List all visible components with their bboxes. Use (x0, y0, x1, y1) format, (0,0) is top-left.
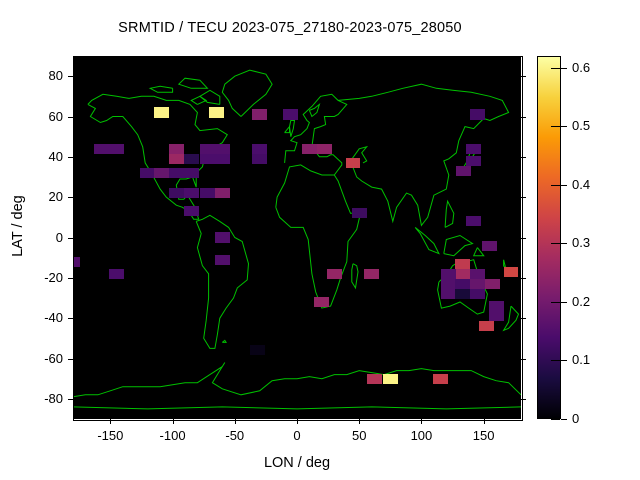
heatmap-cell (327, 269, 342, 279)
heatmap-cell (352, 208, 367, 218)
heatmap-cell (470, 269, 485, 279)
axis-tick (68, 117, 73, 118)
coastline-path (179, 78, 208, 88)
heatmap-cell (169, 144, 184, 154)
colorbar-tick (561, 68, 567, 69)
coastline-path (73, 407, 521, 409)
colorbar-tick (561, 302, 567, 303)
heatmap-cell (209, 107, 224, 117)
heatmap-cell (470, 109, 485, 119)
coastline-path (444, 236, 473, 256)
heatmap-cell (441, 279, 456, 289)
axis-tick (68, 359, 73, 360)
axis-tick (521, 318, 526, 319)
heatmap-cell (252, 109, 267, 119)
coastline-path (504, 306, 519, 330)
axis-tick (235, 419, 236, 424)
coastline-path (191, 96, 206, 104)
heatmap-cell (504, 267, 519, 277)
heatmap-cell (200, 144, 215, 154)
colorbar-gradient (538, 57, 560, 418)
y-tick-label: 0 (17, 230, 63, 245)
heatmap-cell (433, 374, 448, 384)
y-tick-label: -80 (17, 391, 63, 406)
axis-tick (68, 76, 73, 77)
axis-tick (297, 419, 298, 424)
heatmap-cell (252, 154, 267, 164)
axis-tick (521, 117, 526, 118)
axis-tick (359, 56, 360, 61)
heatmap-cell (184, 168, 199, 178)
heatmap-cell (455, 289, 470, 299)
chart-title: SRMTID / TECU 2023-075_27180-2023-075_28… (0, 20, 580, 36)
colorbar-tick (551, 419, 560, 420)
heatmap-cell (73, 257, 80, 267)
heatmap-cell (154, 107, 169, 117)
heatmap-cell (489, 301, 504, 311)
heatmap-cell (314, 297, 329, 307)
y-tick-label: 40 (17, 149, 63, 164)
axis-tick (521, 278, 526, 279)
axis-tick (68, 318, 73, 319)
x-tick-label: -100 (143, 428, 203, 443)
heatmap-cell (383, 374, 398, 384)
x-tick-label: 100 (391, 428, 451, 443)
axis-tick (521, 238, 526, 239)
colorbar-tick-label: 0.2 (572, 294, 590, 309)
colorbar-tick (551, 243, 560, 244)
axis-tick (521, 197, 526, 198)
colorbar-tick (561, 360, 567, 361)
heatmap-cell (479, 321, 494, 331)
coastline-path (415, 227, 439, 253)
heatmap-cell (456, 166, 471, 176)
x-tick-label: -50 (205, 428, 265, 443)
heatmap-cell (184, 188, 199, 198)
axis-tick (521, 399, 526, 400)
y-tick-label: -40 (17, 310, 63, 325)
coastline-path (285, 94, 347, 175)
y-tick-label: -60 (17, 351, 63, 366)
coastline-path (352, 264, 358, 288)
heatmap-cell (346, 158, 361, 168)
heatmap-cell (215, 255, 230, 265)
heatmap-cell (466, 144, 481, 154)
heatmap-cell (215, 188, 230, 198)
coastline-path (445, 201, 454, 227)
axis-tick (68, 278, 73, 279)
heatmap-cell (252, 144, 267, 154)
axis-tick (484, 56, 485, 61)
colorbar-tick (551, 302, 560, 303)
y-tick-label: -20 (17, 270, 63, 285)
heatmap-cell (441, 289, 456, 299)
colorbar-tick (551, 126, 560, 127)
coastline-path (290, 121, 295, 137)
heatmap-cell (283, 109, 298, 119)
axis-tick (421, 419, 422, 424)
heatmap-cell (169, 168, 184, 178)
heatmap-cell (470, 289, 485, 299)
axis-tick (521, 359, 526, 360)
colorbar-tick-label: 0.3 (572, 235, 590, 250)
coastline-path (309, 104, 319, 116)
heatmap-cell (455, 279, 470, 289)
axis-tick (359, 419, 360, 424)
x-tick-label: 50 (329, 428, 389, 443)
heatmap-cell (485, 279, 500, 289)
axis-tick (68, 399, 73, 400)
y-tick-label: 80 (17, 68, 63, 83)
heatmap-cell (169, 188, 184, 198)
heatmap-cell (455, 259, 470, 269)
heatmap-cell (215, 144, 230, 154)
heatmap-cell (466, 156, 481, 166)
axis-tick (484, 419, 485, 424)
heatmap-cell (482, 241, 497, 251)
axis-tick (173, 56, 174, 61)
heatmap-cell (302, 144, 317, 154)
y-tick-label: 60 (17, 109, 63, 124)
heatmap-cell (140, 168, 155, 178)
heatmap-cell (109, 269, 124, 279)
heatmap-cell (169, 154, 184, 164)
colorbar-tick-label: 0.5 (572, 118, 590, 133)
axis-tick (68, 157, 73, 158)
colorbar-tick (551, 185, 560, 186)
colorbar-tick-label: 0.1 (572, 352, 590, 367)
heatmap-cell (466, 216, 481, 226)
colorbar-tick-label: 0.4 (572, 177, 590, 192)
axis-tick (235, 56, 236, 61)
colorbar-tick-label: 0.6 (572, 60, 590, 75)
colorbar-tick (561, 243, 567, 244)
x-axis-label: LON / deg (73, 455, 521, 471)
axis-tick (173, 419, 174, 424)
colorbar-tick-label: 0 (572, 411, 579, 426)
coastline-path (276, 165, 361, 308)
axis-tick (110, 56, 111, 61)
colorbar-tick (561, 185, 567, 186)
x-tick-label: -150 (80, 428, 140, 443)
colorbar-tick (561, 126, 567, 127)
axis-tick (421, 56, 422, 61)
heatmap-cell (200, 188, 215, 198)
heatmap-cell (441, 269, 456, 279)
axis-tick (521, 157, 526, 158)
heatmap-cell (367, 374, 382, 384)
heatmap-cell (109, 144, 124, 154)
heatmap-cell (215, 154, 230, 164)
axis-tick (68, 238, 73, 239)
colorbar (537, 56, 561, 419)
axis-tick (521, 76, 526, 77)
x-tick-label: 150 (454, 428, 514, 443)
heatmap-cell (317, 144, 332, 154)
heatmap-cell (470, 279, 485, 289)
x-tick-label: 0 (267, 428, 327, 443)
axis-tick (297, 56, 298, 61)
heatmap-cell (364, 269, 379, 279)
coastline-path (73, 363, 521, 397)
heatmap-cell (200, 154, 215, 164)
colorbar-tick (561, 419, 567, 420)
colorbar-tick (551, 68, 560, 69)
chart-figure: SRMTID / TECU 2023-075_27180-2023-075_28… (0, 0, 640, 480)
heatmap-cell (455, 269, 470, 279)
y-tick-label: 20 (17, 189, 63, 204)
heatmap-cell (94, 144, 109, 154)
coastline-path (150, 86, 172, 92)
axis-tick (68, 197, 73, 198)
map-plot-area[interactable] (73, 56, 521, 419)
axis-tick (110, 419, 111, 424)
heatmap-cell (184, 206, 199, 216)
coastline-path (222, 340, 226, 342)
heatmap-cell (184, 154, 199, 164)
heatmap-cell (215, 232, 230, 242)
heatmap-cell (250, 345, 265, 355)
heatmap-cell (489, 311, 504, 321)
colorbar-tick (551, 360, 560, 361)
coastline-path (338, 84, 509, 225)
heatmap-cell (154, 168, 169, 178)
coastline-path (285, 127, 290, 133)
